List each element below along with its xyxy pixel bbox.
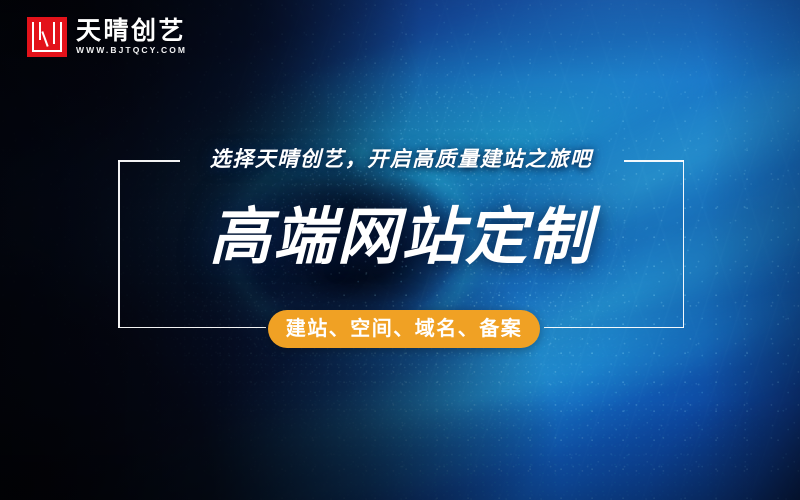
brand-url: WWW.BJTQCY.COM: [76, 46, 187, 55]
monogram-frame-shape: [32, 22, 62, 52]
brand-logo[interactable]: 天晴创艺 WWW.BJTQCY.COM: [27, 17, 187, 57]
monogram-right-stroke: [53, 22, 55, 44]
cta-services-pill[interactable]: 建站、空间、域名、备案: [268, 310, 540, 348]
cta-services-label: 建站、空间、域名、备案: [286, 319, 523, 339]
hero-headline: 高端网站定制: [118, 202, 684, 274]
brand-name: 天晴创艺: [76, 19, 187, 44]
promo-banner: 天晴创艺 WWW.BJTQCY.COM 选择天晴创艺，开启高质量建站之旅吧 高端…: [0, 0, 800, 500]
tianqing-monogram-icon: [27, 17, 67, 57]
frame-border-bottom-left: [118, 327, 266, 329]
hero-frame: 选择天晴创艺，开启高质量建站之旅吧 高端网站定制 建站、空间、域名、备案: [118, 160, 684, 328]
frame-border-bottom-right: [544, 327, 684, 329]
hero-tagline: 选择天晴创艺，开启高质量建站之旅吧: [118, 146, 684, 174]
brand-logo-text: 天晴创艺 WWW.BJTQCY.COM: [76, 19, 187, 55]
